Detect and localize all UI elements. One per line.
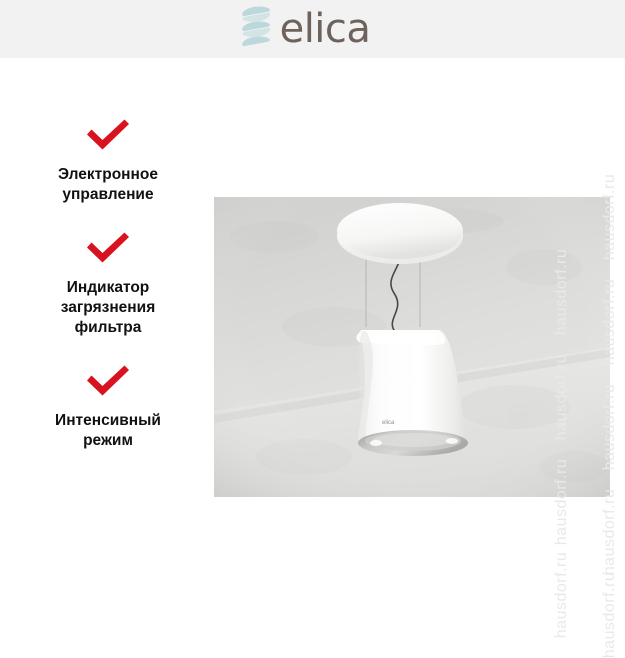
brand-wordmark: elica bbox=[280, 9, 371, 49]
feature-item: Индикатор загрязнения фильтра bbox=[8, 231, 208, 338]
feature-label: Интенсивный режим bbox=[8, 411, 208, 451]
feature-label: Электронное управление bbox=[8, 165, 208, 205]
red-checkmark-icon bbox=[8, 364, 208, 403]
watermark-text: hausdorf.ru bbox=[601, 572, 619, 658]
feature-list: Электронное управление Индикатор загрязн… bbox=[8, 118, 208, 477]
brand-logo[interactable]: elica bbox=[239, 5, 371, 54]
red-checkmark-icon bbox=[8, 118, 208, 157]
red-checkmark-icon bbox=[8, 231, 208, 270]
watermark-text: hausdorf.ru bbox=[601, 489, 619, 575]
feature-label: Индикатор загрязнения фильтра bbox=[8, 278, 208, 338]
watermark-text: hausdorf.ru bbox=[553, 552, 571, 638]
feature-item: Электронное управление bbox=[8, 118, 208, 205]
elica-swirl-icon bbox=[239, 5, 273, 54]
pendant-cooker-hood-photo: elica bbox=[214, 197, 610, 497]
page-content: Электронное управление Индикатор загрязн… bbox=[0, 58, 625, 625]
feature-item: Интенсивный режим bbox=[8, 364, 208, 451]
site-header: elica bbox=[0, 0, 625, 58]
